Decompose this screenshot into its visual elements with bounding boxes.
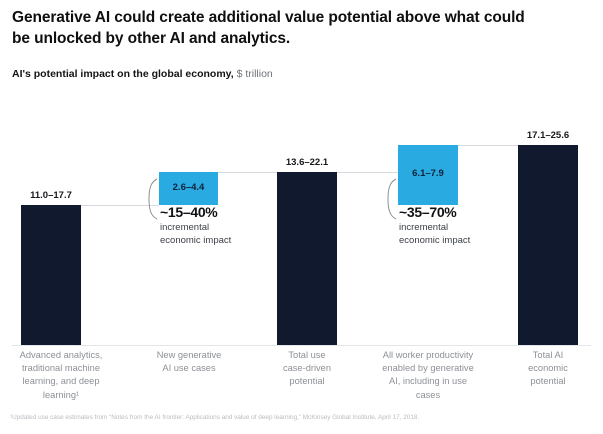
connector-bar3-bar4	[337, 172, 399, 173]
bar-total-use-case-driven[interactable]	[277, 172, 337, 345]
callout-1-line2: economic impact	[160, 235, 280, 247]
bar-value-1: 11.0–17.7	[11, 190, 91, 201]
callout-1-description: incremental economic impact	[160, 222, 280, 247]
category-label-2-line2: AI use cases	[133, 362, 245, 375]
bar-value-2: 2.6–4.4	[159, 182, 218, 193]
category-label-1: Advanced analytics, traditional machine …	[6, 349, 116, 402]
category-label-3-line1: Total use	[252, 349, 362, 362]
chart-baseline	[12, 345, 591, 346]
callout-1-line1: incremental	[160, 222, 280, 234]
footnote: ¹Updated use case estimates from “Notes …	[10, 414, 595, 422]
callout-2-line2: economic impact	[399, 235, 519, 247]
category-label-1-line4: learning¹	[6, 389, 116, 402]
category-label-4-line4: cases	[364, 389, 492, 402]
chart-plot-area: 11.0–17.7 2.6–4.4 13.6–22.1 6.1–7.9 17.1…	[0, 0, 603, 360]
category-label-5: Total AI economic potential	[493, 349, 603, 389]
category-label-4: All worker productivity enabled by gener…	[364, 349, 492, 402]
category-label-5-line2: economic	[493, 362, 603, 375]
category-label-3: Total use case-driven potential	[252, 349, 362, 389]
category-label-4-line3: AI, including in use	[364, 375, 492, 388]
category-label-2-line1: New generative	[133, 349, 245, 362]
bar-value-4: 6.1–7.9	[398, 168, 458, 179]
category-label-5-line3: potential	[493, 375, 603, 388]
category-label-3-line2: case-driven	[252, 362, 362, 375]
callout-2-line1: incremental	[399, 222, 519, 234]
category-label-5-line1: Total AI	[493, 349, 603, 362]
chart-page: Generative AI could create additional va…	[0, 0, 603, 434]
callout-1: ~15–40% incremental economic impact	[160, 205, 280, 247]
connector-bar2-bar3	[218, 172, 278, 173]
callout-brace-2	[385, 178, 397, 220]
callout-2-percent: ~35–70%	[399, 205, 519, 220]
callout-brace-1	[146, 178, 158, 220]
category-label-1-line3: learning, and deep	[6, 375, 116, 388]
bar-value-3: 13.6–22.1	[267, 157, 347, 168]
category-label-3-line3: potential	[252, 375, 362, 388]
callout-2-description: incremental economic impact	[399, 222, 519, 247]
bar-advanced-analytics[interactable]	[21, 205, 81, 345]
category-label-2: New generative AI use cases	[133, 349, 245, 375]
category-label-4-line1: All worker productivity	[364, 349, 492, 362]
category-label-1-line2: traditional machine	[6, 362, 116, 375]
callout-2: ~35–70% incremental economic impact	[399, 205, 519, 247]
bar-total-ai-economic-potential[interactable]	[518, 145, 578, 345]
callout-1-percent: ~15–40%	[160, 205, 280, 220]
category-label-1-line1: Advanced analytics,	[6, 349, 116, 362]
bar-value-5: 17.1–25.6	[508, 130, 588, 141]
category-label-4-line2: enabled by generative	[364, 362, 492, 375]
